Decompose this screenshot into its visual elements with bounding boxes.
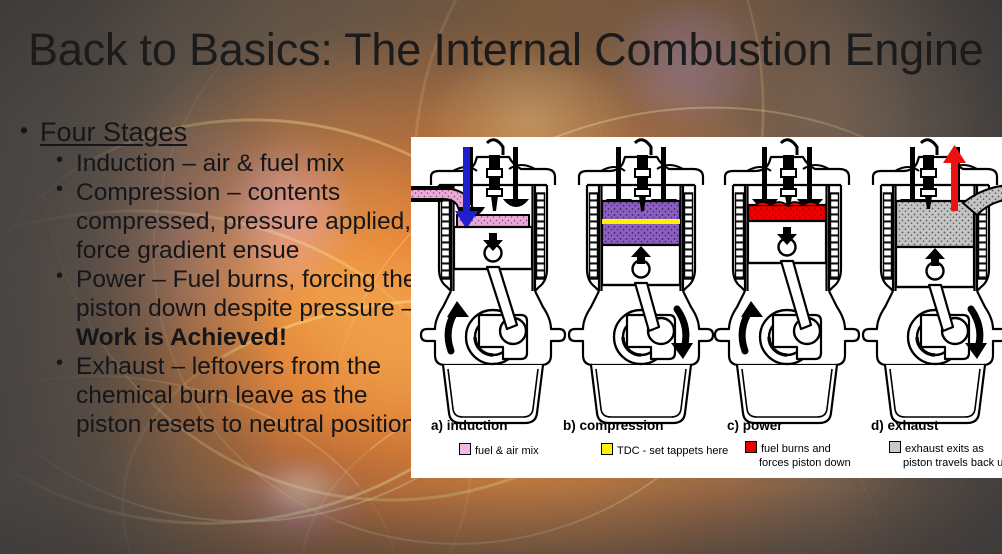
caption-compression: b) compression (563, 418, 664, 433)
panel-induction (411, 140, 565, 423)
bullet-item-compression: Compression – contents compressed, press… (8, 179, 420, 265)
legend-label-2: piston travels back u (889, 457, 1002, 471)
legend-swatch-icon (459, 443, 471, 455)
bullet-item-power: Power – Fuel burns, forcing the piston d… (8, 266, 420, 352)
engine-cycle-diagram: a) induction b) compression c) power d) … (411, 137, 1002, 478)
bullet-item-emphasis: Work is Achieved! (76, 324, 287, 351)
panel-power (715, 140, 859, 423)
legend-swatch-icon (889, 441, 901, 453)
bullet-item-exhaust: Exhaust – leftovers from the chemical bu… (8, 353, 420, 439)
bullet-heading-four-stages: Four Stages (8, 118, 420, 148)
legend-fuel-burns: fuel burns and forces piston down (745, 441, 851, 471)
bullet-heading-label: Four Stages (40, 117, 187, 147)
legend-label: exhaust exits as (905, 443, 984, 455)
tdc-line (602, 219, 680, 224)
bullet-item-label: Compression – contents compressed, press… (76, 179, 411, 263)
legend-label: fuel & air mix (475, 445, 539, 457)
caption-exhaust: d) exhaust (871, 418, 939, 433)
bullet-item-label: Exhaust – leftovers from the chemical bu… (76, 353, 415, 437)
legend-tdc: TDC - set tappets here (601, 443, 728, 459)
panel-compression (569, 140, 713, 423)
caption-induction: a) induction (431, 418, 508, 433)
slide-title: Back to Basics: The Internal Combustion … (28, 24, 978, 76)
slide-canvas: Back to Basics: The Internal Combustion … (0, 0, 1002, 554)
legend-swatch-icon (745, 441, 757, 453)
bullet-item-label: Power – Fuel burns, forcing the piston d… (76, 266, 416, 322)
bullet-item-induction: Induction – air & fuel mix (8, 150, 420, 179)
legend-label: TDC - set tappets here (617, 445, 728, 457)
legend-swatch-icon (601, 443, 613, 455)
legend-fuel-air-mix: fuel & air mix (459, 443, 539, 459)
bullet-list: Four Stages Induction – air & fuel mix C… (8, 118, 420, 440)
caption-power: c) power (727, 418, 783, 433)
bullet-item-label: Induction – air & fuel mix (76, 150, 344, 177)
panel-exhaust (863, 140, 1002, 423)
legend-exhaust-exits: exhaust exits as piston travels back u (889, 441, 1002, 471)
legend-label: fuel burns and (761, 443, 831, 455)
legend-label-2: forces piston down (745, 457, 851, 471)
